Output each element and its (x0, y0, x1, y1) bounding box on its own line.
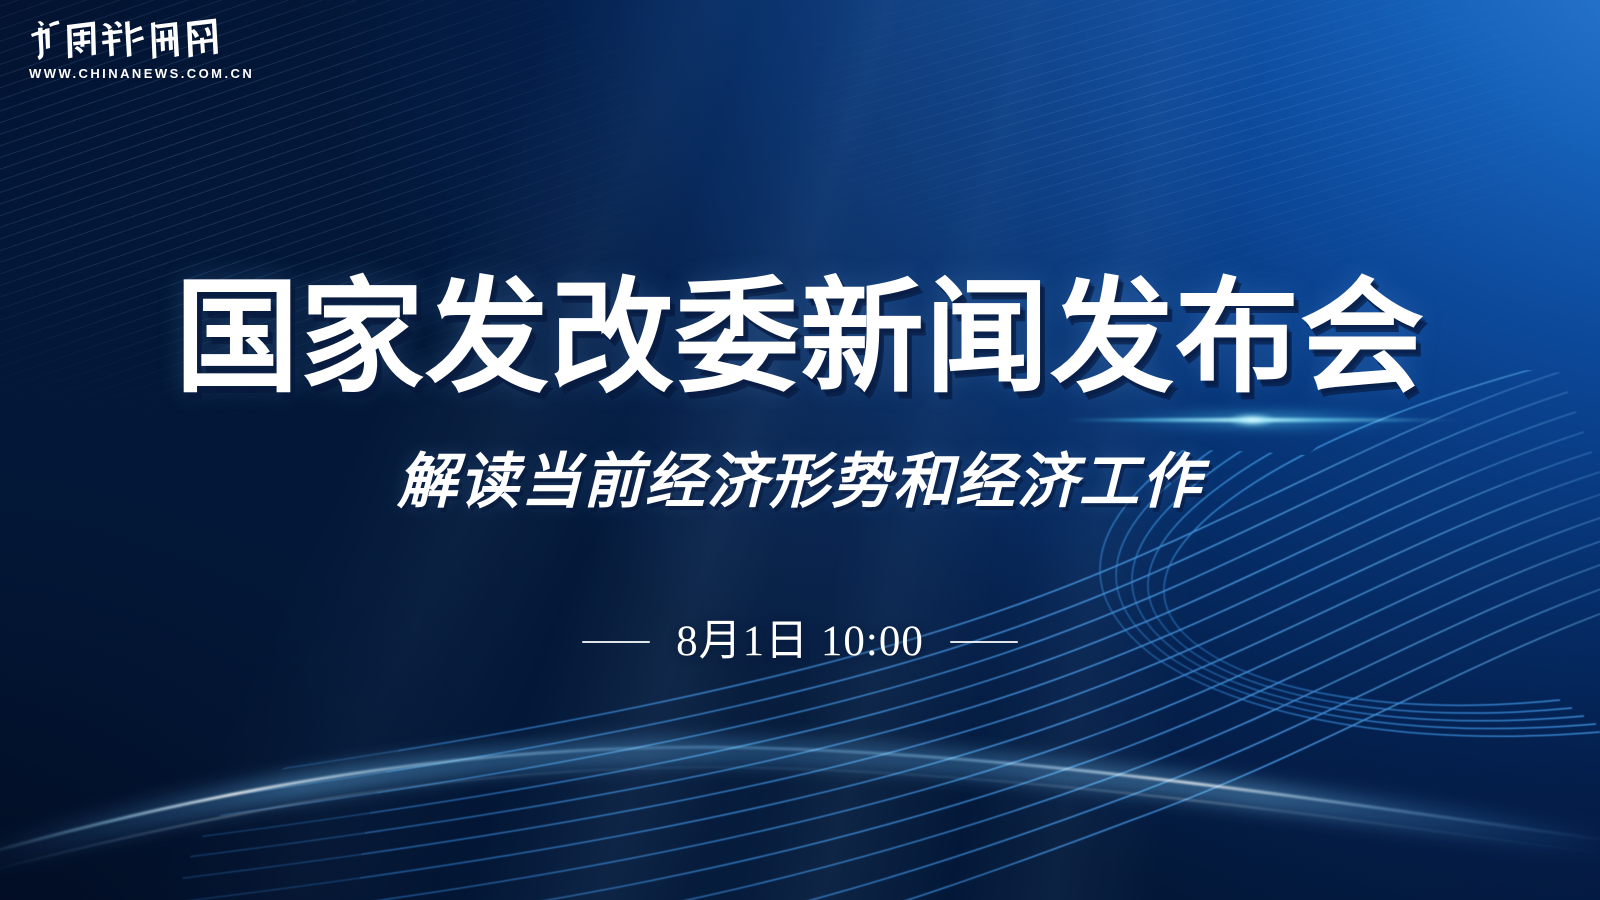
date-rule-right (950, 641, 1018, 643)
page-subtitle: 解读当前经济形势和经济工作 (0, 452, 1600, 512)
news-broadcast-poster: WWW.CHINANEWS.COM.CN 国家发改委新闻发布会 解读当前经济形势… (0, 0, 1600, 900)
page-title: 国家发改委新闻发布会 (0, 276, 1600, 400)
date-time-bar: 8月1日 10:00 (0, 620, 1600, 663)
poster-content: 国家发改委新闻发布会 解读当前经济形势和经济工作 8月1日 10:00 (0, 0, 1600, 900)
date-time-text: 8月1日 10:00 (676, 620, 924, 663)
date-rule-left (582, 641, 650, 643)
